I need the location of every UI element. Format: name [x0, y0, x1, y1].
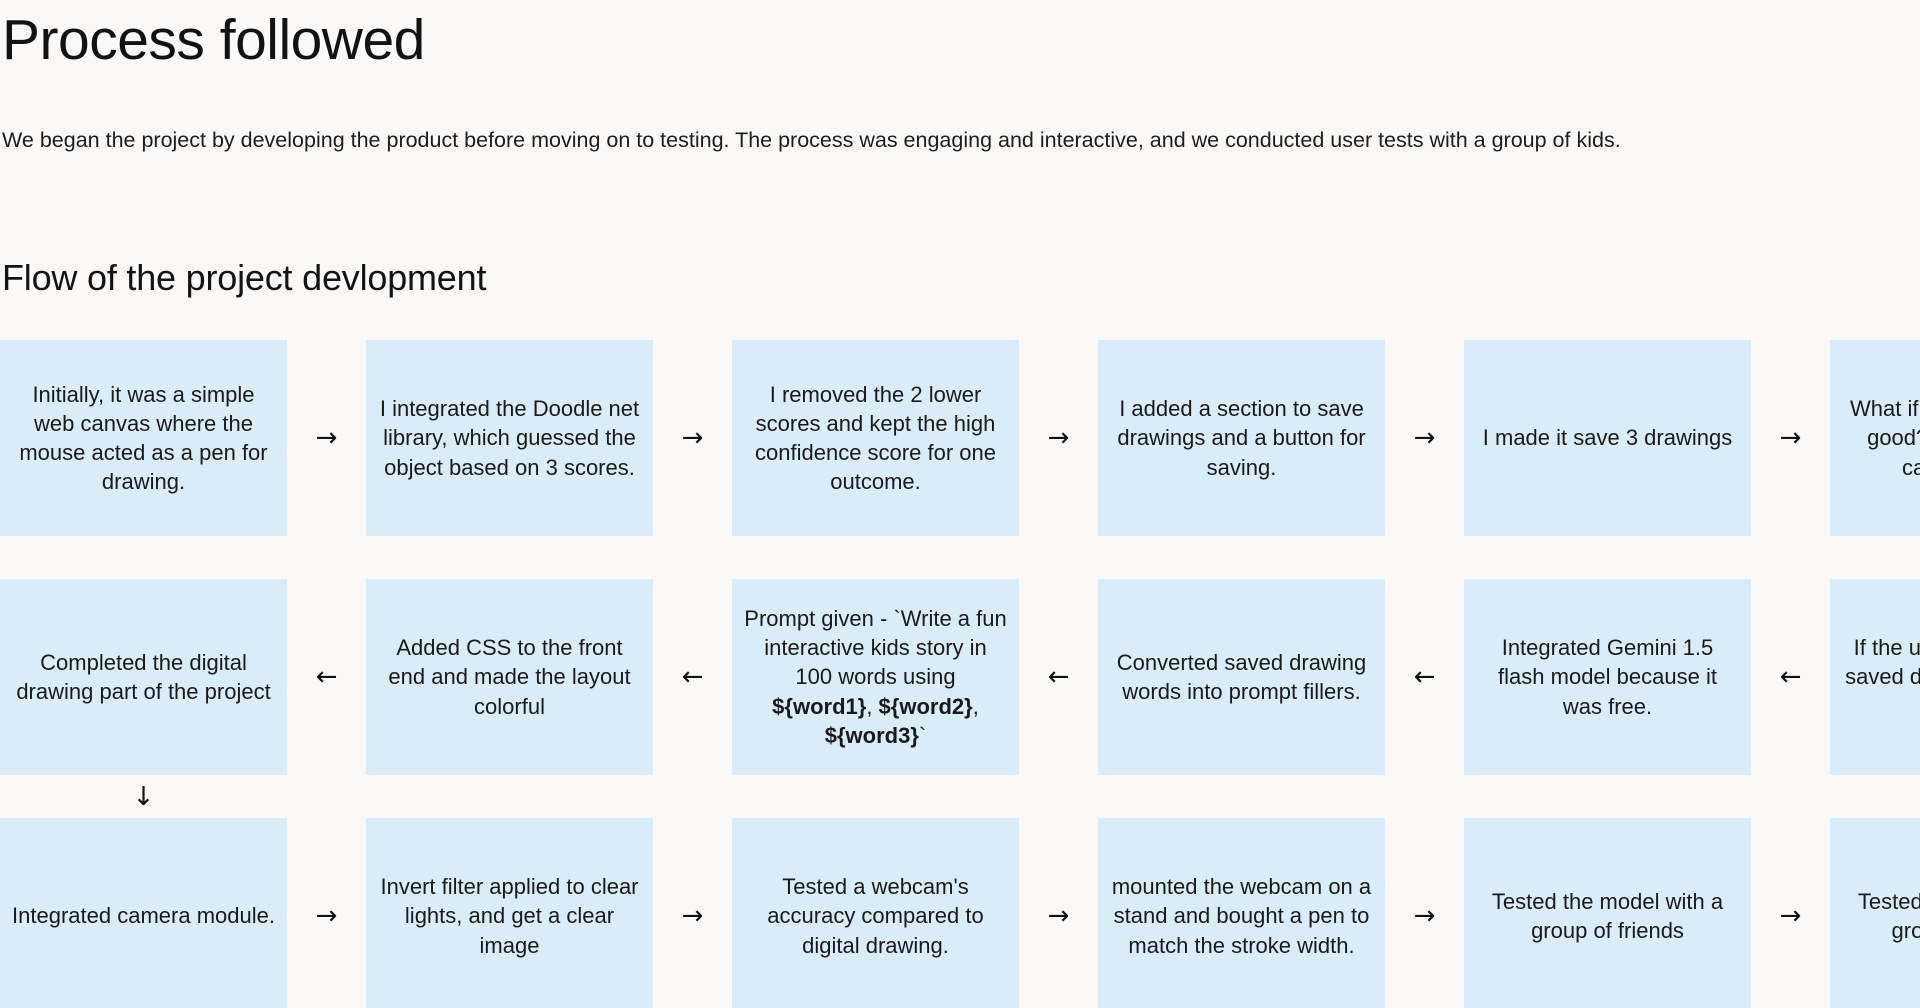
- flow-card: I removed the 2 lower scores and kept th…: [732, 340, 1019, 536]
- spacer: [287, 536, 366, 579]
- flow-card-text: I made it save 3 drawings: [1476, 423, 1739, 452]
- vertical-connector-slot: [1464, 536, 1751, 579]
- arrow-left-icon: ←: [1385, 579, 1464, 775]
- spacer: [1019, 536, 1098, 579]
- vertical-connector-row: ↓: [0, 536, 1920, 579]
- flow-card-text: Tested the model with a group of friends: [1476, 887, 1739, 946]
- flow-card-text: I integrated the Doodle net library, whi…: [378, 394, 641, 482]
- flow-card-text: Completed the digital drawing part of th…: [12, 648, 275, 707]
- flow-card: Invert filter applied to clear lights, a…: [366, 818, 653, 1008]
- arrow-left-icon: ←: [287, 579, 366, 775]
- page-title: Process followed: [0, 6, 425, 76]
- flow-card-text: Integrated camera module.: [12, 901, 275, 930]
- flow-card: I added a section to save drawings and a…: [1098, 340, 1385, 536]
- flow-row: Initially, it was a simple web canvas wh…: [0, 340, 1920, 536]
- arrow-left-icon: ←: [1019, 579, 1098, 775]
- flow-card-prompt: Prompt given - `Write a fun interactive …: [732, 579, 1019, 775]
- intro-paragraph: We began the project by developing the p…: [2, 125, 1902, 156]
- flow-card: Completed the digital drawing part of th…: [0, 579, 287, 775]
- spacer: [1751, 775, 1830, 818]
- flow-card-text: If the user wants to clear saved drawing…: [1842, 633, 1920, 721]
- spacer: [1385, 775, 1464, 818]
- arrow-right-icon: →: [287, 818, 366, 1008]
- flow-card: Integrated Gemini 1.5 flash model becaus…: [1464, 579, 1751, 775]
- flow-card-text: Prompt given - `Write a fun interactive …: [744, 604, 1007, 750]
- arrow-right-icon: →: [1019, 818, 1098, 1008]
- arrow-left-icon: ←: [653, 579, 732, 775]
- flow-card: I made it save 3 drawings: [1464, 340, 1751, 536]
- flow-card-text: I added a section to save drawings and a…: [1110, 394, 1373, 482]
- section-title-flow: Flow of the project devlopment: [2, 255, 486, 300]
- flow-row: Integrated camera module. → Invert filte…: [0, 818, 1920, 1008]
- flow-card: mounted the webcam on a stand and bought…: [1098, 818, 1385, 1008]
- vertical-connector-slot: [1098, 775, 1385, 818]
- vertical-connector-slot: [1830, 775, 1920, 818]
- flow-card-text: Invert filter applied to clear lights, a…: [378, 872, 641, 960]
- vertical-connector-slot: [0, 536, 287, 579]
- flow-card-text: Converted saved drawing words into promp…: [1110, 648, 1373, 707]
- vertical-connector-slot: [1098, 536, 1385, 579]
- flow-row: Completed the digital drawing part of th…: [0, 579, 1920, 775]
- vertical-connector-slot: [366, 775, 653, 818]
- spacer: [1385, 536, 1464, 579]
- flow-card-text: Integrated Gemini 1.5 flash model becaus…: [1476, 633, 1739, 721]
- vertical-connector-slot: [366, 536, 653, 579]
- flow-card-text: Tested a webcam's accuracy compared to d…: [744, 872, 1007, 960]
- spacer: [287, 775, 366, 818]
- spacer: [1019, 775, 1098, 818]
- arrow-left-icon: ←: [1751, 579, 1830, 775]
- arrow-right-icon: →: [653, 340, 732, 536]
- arrow-right-icon: →: [1751, 340, 1830, 536]
- flow-card: Converted saved drawing words into promp…: [1098, 579, 1385, 775]
- flow-card-text: What if the drawing is not good? I added…: [1842, 394, 1920, 482]
- flow-card-text: Added CSS to the front end and made the …: [378, 633, 641, 721]
- flow-card: Initially, it was a simple web canvas wh…: [0, 340, 287, 536]
- spacer: [653, 775, 732, 818]
- flow-card: Added CSS to the front end and made the …: [366, 579, 653, 775]
- flow-card-text: Tested the model with a group of childre…: [1842, 887, 1920, 946]
- arrow-right-icon: →: [287, 340, 366, 536]
- arrow-down-icon: ↓: [0, 775, 287, 818]
- spacer: [653, 536, 732, 579]
- vertical-connector-row: ↓: [0, 775, 1920, 818]
- project-flow-diagram: Initially, it was a simple web canvas wh…: [0, 340, 1920, 1008]
- arrow-right-icon: →: [1751, 818, 1830, 1008]
- vertical-connector-slot: [732, 536, 1019, 579]
- process-followed-page: Process followed We began the project by…: [0, 0, 1920, 1008]
- flow-card: Integrated camera module.: [0, 818, 287, 1008]
- arrow-right-icon: →: [1019, 340, 1098, 536]
- vertical-connector-slot: [1464, 775, 1751, 818]
- arrow-right-icon: →: [1385, 818, 1464, 1008]
- flow-card-text: Initially, it was a simple web canvas wh…: [12, 380, 275, 497]
- flow-card-text: I removed the 2 lower scores and kept th…: [744, 380, 1007, 497]
- arrow-right-icon: →: [653, 818, 732, 1008]
- flow-card: Tested a webcam's accuracy compared to d…: [732, 818, 1019, 1008]
- flow-card: Tested the model with a group of friends: [1464, 818, 1751, 1008]
- flow-card: If the user wants to clear saved drawing…: [1830, 579, 1920, 775]
- flow-card-text: mounted the webcam on a stand and bought…: [1110, 872, 1373, 960]
- arrow-down-icon: ↓: [1830, 536, 1920, 579]
- vertical-connector-slot: [732, 775, 1019, 818]
- flow-card: Tested the model with a group of childre…: [1830, 818, 1920, 1008]
- arrow-right-icon: →: [1385, 340, 1464, 536]
- flow-card: What if the drawing is not good? I added…: [1830, 340, 1920, 536]
- spacer: [1751, 536, 1830, 579]
- flow-card: I integrated the Doodle net library, whi…: [366, 340, 653, 536]
